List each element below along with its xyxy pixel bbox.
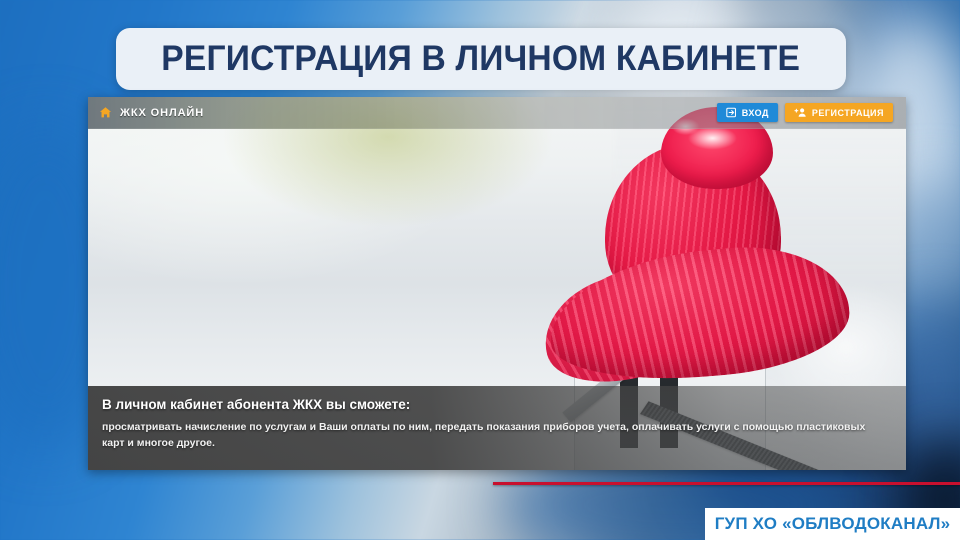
- hat-brim: [544, 238, 854, 390]
- slide-title-plate: РЕГИСТРАЦИЯ В ЛИЧНОМ КАБИНЕТЕ: [116, 28, 846, 90]
- login-button-label: ВХОД: [742, 108, 769, 118]
- footer-plate: ГУП ХО «ОБЛВОДОКАНАЛ»: [705, 508, 960, 540]
- embedded-screenshot: ЖКХ ОНЛАЙН ВХОД: [88, 97, 906, 470]
- add-user-icon: [794, 107, 807, 118]
- organization-label: ГУП ХО «ОБЛВОДОКАНАЛ»: [715, 514, 951, 534]
- site-header: ЖКХ ОНЛАЙН ВХОД: [88, 97, 906, 129]
- register-button-label: РЕГИСТРАЦИЯ: [812, 108, 884, 118]
- red-divider-line: [493, 482, 960, 485]
- login-arrow-icon: [726, 107, 737, 118]
- brand-link[interactable]: ЖКХ ОНЛАЙН: [88, 106, 204, 119]
- slide-canvas: РЕГИСТРАЦИЯ В ЛИЧНОМ КАБИНЕТЕ: [0, 0, 960, 540]
- brand-label: ЖКХ ОНЛАЙН: [120, 107, 204, 119]
- hero-caption: В личном кабинет абонента ЖКХ вы сможете…: [88, 386, 906, 470]
- header-actions: ВХОД РЕГИСТРАЦИЯ: [717, 103, 906, 122]
- page-title: РЕГИСТРАЦИЯ В ЛИЧНОМ КАБИНЕТЕ: [162, 39, 801, 79]
- caption-body: просматривать начисление по услугам и Ва…: [102, 419, 880, 451]
- knit-hat-illustration: [543, 109, 873, 409]
- caption-title: В личном кабинет абонента ЖКХ вы сможете…: [102, 397, 892, 412]
- register-button[interactable]: РЕГИСТРАЦИЯ: [785, 103, 893, 122]
- home-icon: [99, 106, 112, 119]
- login-button[interactable]: ВХОД: [717, 103, 778, 122]
